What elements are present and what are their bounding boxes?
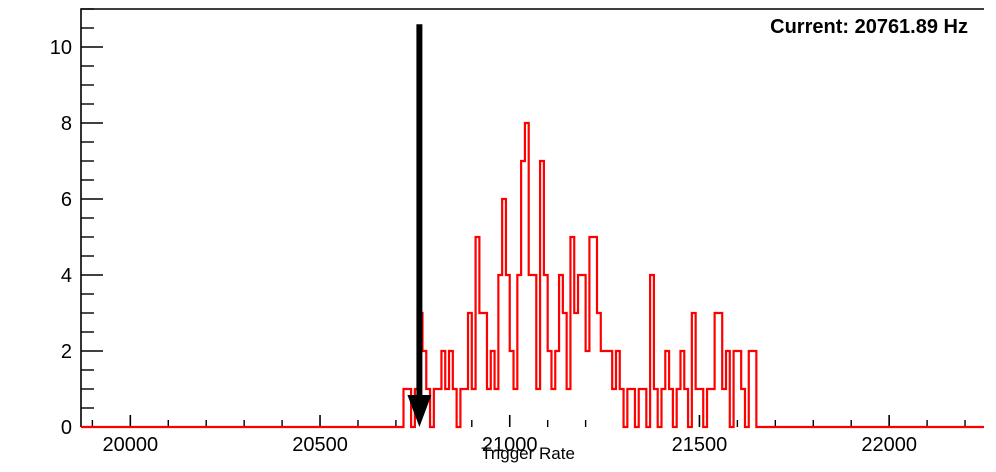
y-tick-label: 2 [61, 341, 72, 363]
y-tick-label: 6 [61, 189, 72, 211]
root-canvas: 0246810 2000020500210002150022000 Trigge… [0, 0, 996, 472]
y-axis-minor-ticks [81, 9, 94, 408]
x-tick-label: 21500 [672, 434, 728, 456]
x-tick-label: 20500 [292, 434, 348, 456]
y-tick-label: 4 [61, 265, 72, 287]
x-tick-label: 20000 [103, 434, 159, 456]
y-axis-tick-labels: 0246810 [50, 37, 72, 439]
trigger-rate-histogram[interactable]: 0246810 2000020500210002150022000 Trigge… [0, 0, 996, 472]
axis-frame-line [81, 9, 984, 427]
y-tick-label: 0 [61, 417, 72, 439]
histogram-outline[interactable] [81, 123, 984, 427]
current-value-readout: Current: 20761.89 Hz [770, 16, 968, 38]
y-tick-label: 10 [50, 37, 72, 59]
current-value-marker[interactable] [407, 24, 431, 427]
y-tick-label: 8 [61, 113, 72, 135]
plot-frame [81, 9, 984, 427]
x-tick-label: 22000 [861, 434, 917, 456]
x-axis-title: Trigger Rate [481, 444, 575, 463]
